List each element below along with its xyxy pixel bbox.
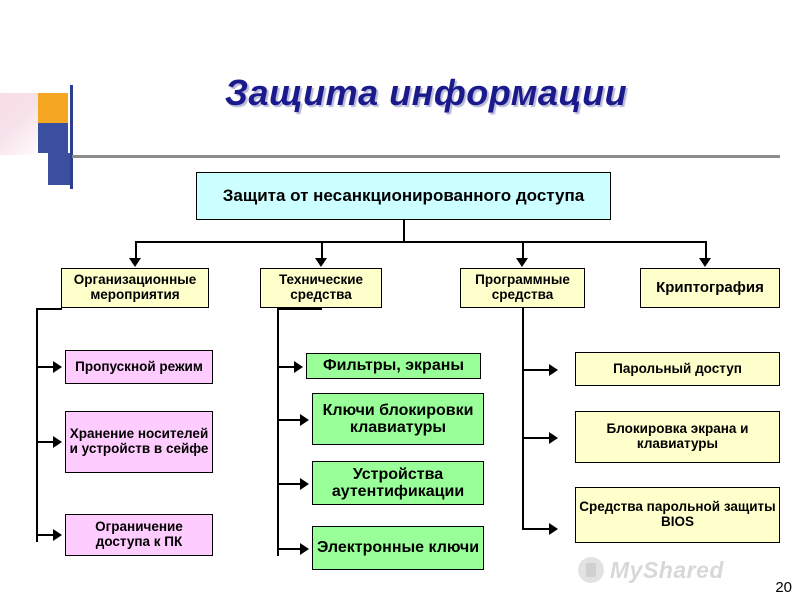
node-password-access: Парольный доступ xyxy=(575,352,780,386)
arrowhead-column3-b xyxy=(549,432,558,444)
node-bios-password-protection: Средства парольной защиты BIOS xyxy=(575,487,780,543)
node-authentication-devices: Устройства аутентификации xyxy=(312,461,484,505)
arrowhead-level2-c xyxy=(516,258,528,267)
node-filters-screens: Фильтры, экраны xyxy=(306,353,481,379)
connector-column3-trunk xyxy=(522,308,524,530)
arrowhead-column2-c xyxy=(300,478,309,490)
connector-column1-trunk xyxy=(36,308,38,542)
node-screen-keyboard-lock: Блокировка экрана и клавиатуры xyxy=(575,411,780,463)
arrowhead-column1-a xyxy=(53,361,62,373)
watermark: MyShared xyxy=(578,548,778,592)
watermark-logo-icon xyxy=(578,557,604,583)
connector-column2-branch-b xyxy=(277,419,301,421)
decorative-blue-bar xyxy=(48,153,70,185)
connector-column1-branch-a xyxy=(36,366,54,368)
arrowhead-column2-d xyxy=(300,543,309,555)
slide-canvas: Защита информации Защита от несанкционир… xyxy=(0,0,800,600)
connector-column1-branch-b xyxy=(36,441,54,443)
connector-column2-trunk xyxy=(277,308,279,556)
arrowhead-column3-c xyxy=(549,523,558,535)
node-restrict-pc-access: Ограничение доступа к ПК xyxy=(65,514,213,556)
connector-to-level2-c xyxy=(522,241,524,259)
node-technical-means: Технические средства xyxy=(260,268,382,308)
diagram-root-node: Защита от несанкционированного доступа xyxy=(196,172,611,220)
node-organizational-measures: Организационные мероприятия xyxy=(61,268,209,308)
decorative-vertical-rule xyxy=(70,85,73,189)
connector-column1-branch-c xyxy=(36,534,54,536)
arrowhead-column1-b xyxy=(53,436,62,448)
arrowhead-column1-c xyxy=(53,529,62,541)
page-number: 20 xyxy=(775,579,792,596)
decorative-gradient-block xyxy=(0,93,42,155)
connector-column2-branch-d xyxy=(277,548,301,550)
connector-level2-bus xyxy=(135,241,705,243)
arrowhead-level2-d xyxy=(699,258,711,267)
decorative-horizontal-rule xyxy=(72,155,780,158)
node-keyboard-lock-keys: Ключи блокировки клавиатуры xyxy=(312,393,484,445)
node-cryptography: Криптография xyxy=(640,268,780,308)
arrowhead-column2-b xyxy=(300,414,309,426)
connector-column2-top xyxy=(277,308,322,310)
connector-column2-branch-a xyxy=(277,366,295,368)
connector-to-level2-a xyxy=(135,241,137,259)
arrowhead-column3-a xyxy=(549,364,558,376)
node-electronic-keys: Электронные ключи xyxy=(312,526,484,570)
connector-column3-branch-b xyxy=(522,437,550,439)
connector-to-level2-b xyxy=(321,241,323,259)
decorative-blue-square xyxy=(38,123,68,153)
connector-column2-branch-c xyxy=(277,483,301,485)
arrowhead-level2-b xyxy=(315,258,327,267)
connector-root-stem xyxy=(403,220,405,242)
arrowhead-column2-a xyxy=(294,361,303,373)
node-access-control-regime: Пропускной режим xyxy=(65,350,213,384)
page-title: Защита информации xyxy=(96,72,756,114)
connector-to-level2-d xyxy=(705,241,707,259)
connector-column1-top xyxy=(36,308,61,310)
connector-column1-top-join xyxy=(60,308,62,310)
node-software-means: Программные средства xyxy=(460,268,585,308)
decorative-orange-square xyxy=(38,93,68,123)
connector-column3-branch-c xyxy=(522,528,550,530)
watermark-text: MyShared xyxy=(610,557,724,584)
connector-column3-branch-a xyxy=(522,369,550,371)
arrowhead-level2-a xyxy=(129,258,141,267)
node-media-storage-safe: Хранение носителей и устройств в сейфе xyxy=(65,411,213,473)
